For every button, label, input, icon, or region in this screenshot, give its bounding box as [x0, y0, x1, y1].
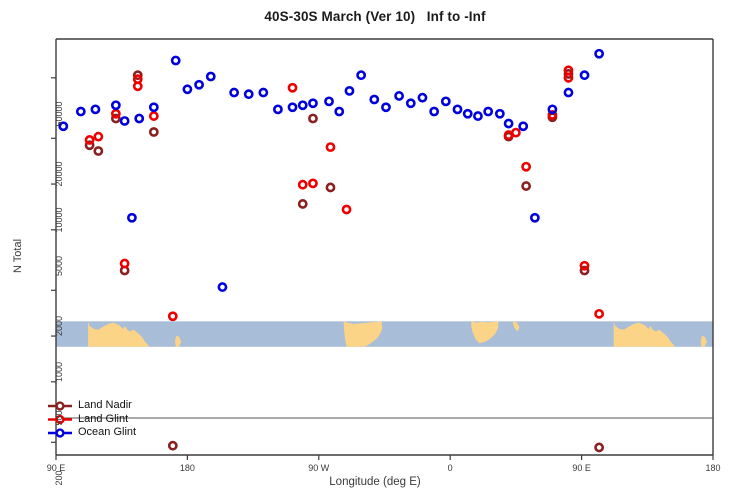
data-point-ocean-glint [549, 106, 556, 113]
data-point-ocean-glint [505, 120, 512, 127]
data-point-ocean-glint [128, 214, 135, 221]
data-point-ocean-glint [77, 108, 84, 115]
y-axis-label: N Total [12, 239, 24, 273]
scatter-plot-canvas [0, 0, 750, 500]
data-point-ocean-glint [219, 283, 226, 290]
data-point-ocean-glint [382, 104, 389, 111]
data-point-ocean-glint [485, 108, 492, 115]
data-point-ocean-glint [260, 89, 267, 96]
data-point-land-nadir [169, 442, 176, 449]
data-point-ocean-glint [431, 108, 438, 115]
legend-label-land-nadir[interactable]: Land Nadir [78, 399, 132, 411]
data-point-ocean-glint [299, 102, 306, 109]
data-point-ocean-glint [231, 89, 238, 96]
data-point-ocean-glint [172, 57, 179, 64]
data-point-ocean-glint [136, 115, 143, 122]
legend-label-ocean-glint[interactable]: Ocean Glint [78, 426, 136, 438]
data-point-land-glint [299, 181, 306, 188]
x-tick-label: 90 E [31, 463, 81, 473]
chart-root: 40S-30S March (Ver 10) Inf to -Inf N Tot… [0, 0, 750, 500]
data-point-ocean-glint [92, 106, 99, 113]
data-point-land-nadir [150, 128, 157, 135]
data-point-ocean-glint [150, 104, 157, 111]
x-tick-label: 90 E [557, 463, 607, 473]
data-point-ocean-glint [407, 100, 414, 107]
data-point-land-nadir [596, 444, 603, 451]
data-point-ocean-glint [474, 112, 481, 119]
data-point-land-glint [86, 136, 93, 143]
data-point-ocean-glint [289, 104, 296, 111]
data-point-land-glint [327, 144, 334, 151]
data-point-ocean-glint [531, 214, 538, 221]
data-point-ocean-glint [207, 73, 214, 80]
data-point-land-glint [596, 310, 603, 317]
data-point-ocean-glint [496, 110, 503, 117]
data-point-ocean-glint [245, 91, 252, 98]
data-point-ocean-glint [274, 106, 281, 113]
data-point-ocean-glint [358, 72, 365, 79]
data-point-land-nadir [299, 200, 306, 207]
data-point-ocean-glint [596, 50, 603, 57]
data-point-ocean-glint [336, 108, 343, 115]
y-tick-label: 50000 [54, 96, 64, 132]
data-point-ocean-glint [454, 106, 461, 113]
data-point-land-nadir [95, 147, 102, 154]
y-tick-label: 5000 [54, 248, 64, 284]
data-point-ocean-glint [464, 110, 471, 117]
x-tick-label: 90 W [294, 463, 344, 473]
data-point-ocean-glint [565, 89, 572, 96]
data-point-land-glint [134, 83, 141, 90]
x-tick-label: 0 [425, 463, 475, 473]
x-tick-label: 180 [162, 463, 212, 473]
data-point-ocean-glint [419, 94, 426, 101]
data-point-land-glint [150, 112, 157, 119]
data-point-land-nadir [523, 182, 530, 189]
y-tick-label: 20000 [54, 156, 64, 192]
data-point-ocean-glint [520, 123, 527, 130]
data-point-land-glint [523, 163, 530, 170]
data-point-land-glint [512, 129, 519, 136]
data-point-ocean-glint [396, 92, 403, 99]
data-points-layer [60, 50, 603, 451]
data-point-land-glint [343, 206, 350, 213]
data-point-ocean-glint [184, 86, 191, 93]
data-point-ocean-glint [325, 98, 332, 105]
data-point-ocean-glint [195, 81, 202, 88]
data-point-ocean-glint [121, 117, 128, 124]
x-axis-label: Longitude (deg E) [0, 476, 750, 488]
y-tick-label: 1000 [54, 354, 64, 390]
data-point-land-nadir [327, 184, 334, 191]
data-point-land-glint [121, 260, 128, 267]
plot-frame [51, 39, 713, 460]
data-point-ocean-glint [371, 96, 378, 103]
world-map-band [56, 321, 713, 346]
y-tick-label: 500 [54, 400, 64, 436]
y-tick-label: 2000 [54, 308, 64, 344]
data-point-ocean-glint [112, 102, 119, 109]
data-point-ocean-glint [442, 98, 449, 105]
data-point-ocean-glint [581, 72, 588, 79]
data-point-land-glint [95, 133, 102, 140]
data-point-land-nadir [309, 115, 316, 122]
x-tick-label: 180 [688, 463, 738, 473]
data-point-land-glint [169, 313, 176, 320]
data-point-ocean-glint [309, 100, 316, 107]
data-point-land-glint [309, 180, 316, 187]
legend-label-land-glint[interactable]: Land Glint [78, 413, 128, 425]
data-point-ocean-glint [346, 87, 353, 94]
y-tick-label: 10000 [54, 202, 64, 238]
data-point-land-glint [289, 84, 296, 91]
